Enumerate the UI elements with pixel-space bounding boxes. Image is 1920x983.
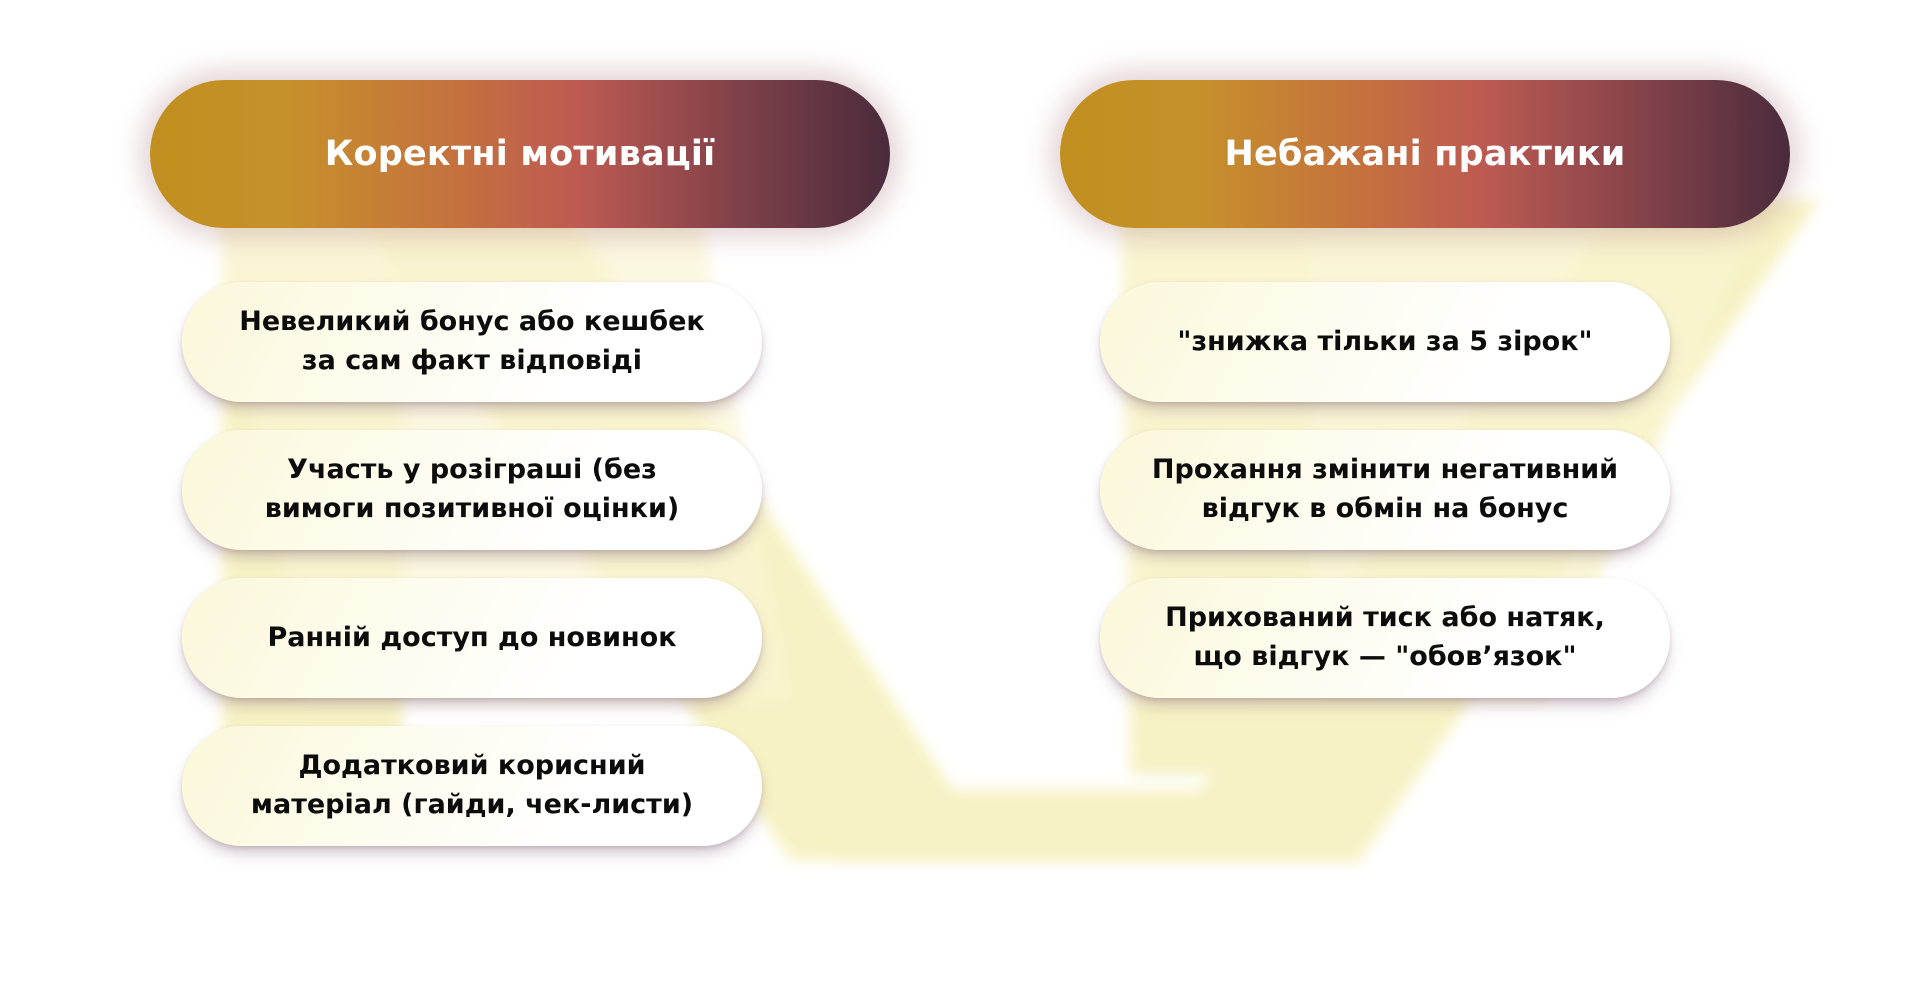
- list-item-text: Участь у розіграші (без вимоги позитивно…: [265, 451, 679, 529]
- list-item-text: "знижка тільки за 5 зірок": [1177, 323, 1592, 362]
- list-item[interactable]: Невеликий бонус або кешбек за сам факт в…: [182, 282, 762, 402]
- list-item[interactable]: "знижка тільки за 5 зірок": [1100, 282, 1670, 402]
- column-header-title: Небажані практики: [1225, 133, 1626, 175]
- column-container: Коректні мотивації Невеликий бонус або к…: [0, 0, 1920, 983]
- list-item-line1: Прохання змінити негативний: [1152, 454, 1618, 485]
- list-item-line1: Участь у розіграші (без: [287, 454, 657, 485]
- list-item-text: Додатковий корисний матеріал (гайди, чек…: [251, 747, 693, 825]
- list-item[interactable]: Додатковий корисний матеріал (гайди, чек…: [182, 726, 762, 846]
- list-item[interactable]: Прихований тиск або натяк, що відгук — "…: [1100, 578, 1670, 698]
- column-header-title: Коректні мотивації: [325, 133, 716, 175]
- list-item-line1: Ранній доступ до новинок: [267, 622, 676, 653]
- list-item[interactable]: Ранній доступ до новинок: [182, 578, 762, 698]
- list-item-line1: Невеликий бонус або кешбек: [239, 306, 704, 337]
- list-item-line2: за сам факт відповіді: [302, 345, 642, 376]
- list-item-text: Прохання змінити негативний відгук в обм…: [1152, 451, 1618, 529]
- list-item-line2: відгук в обмін на бонус: [1202, 493, 1569, 524]
- list-item[interactable]: Прохання змінити негативний відгук в обм…: [1100, 430, 1670, 550]
- list-item-line2: вимоги позитивної оцінки): [265, 493, 679, 524]
- list-item-text: Прихований тиск або натяк, що відгук — "…: [1165, 599, 1605, 677]
- column-header-correct-motivations[interactable]: Коректні мотивації: [150, 80, 890, 228]
- list-item[interactable]: Участь у розіграші (без вимоги позитивно…: [182, 430, 762, 550]
- list-item-line1: "знижка тільки за 5 зірок": [1177, 326, 1592, 357]
- infographic-canvas: Коректні мотивації Невеликий бонус або к…: [0, 0, 1920, 983]
- list-item-line1: Прихований тиск або натяк,: [1165, 602, 1605, 633]
- column-header-undesirable-practices[interactable]: Небажані практики: [1060, 80, 1790, 228]
- list-item-text: Невеликий бонус або кешбек за сам факт в…: [239, 303, 704, 381]
- list-item-text: Ранній доступ до новинок: [267, 619, 676, 658]
- list-item-line2: що відгук — "обов’язок": [1193, 641, 1576, 672]
- list-item-line1: Додатковий корисний: [298, 750, 645, 781]
- list-item-line2: матеріал (гайди, чек-листи): [251, 789, 693, 820]
